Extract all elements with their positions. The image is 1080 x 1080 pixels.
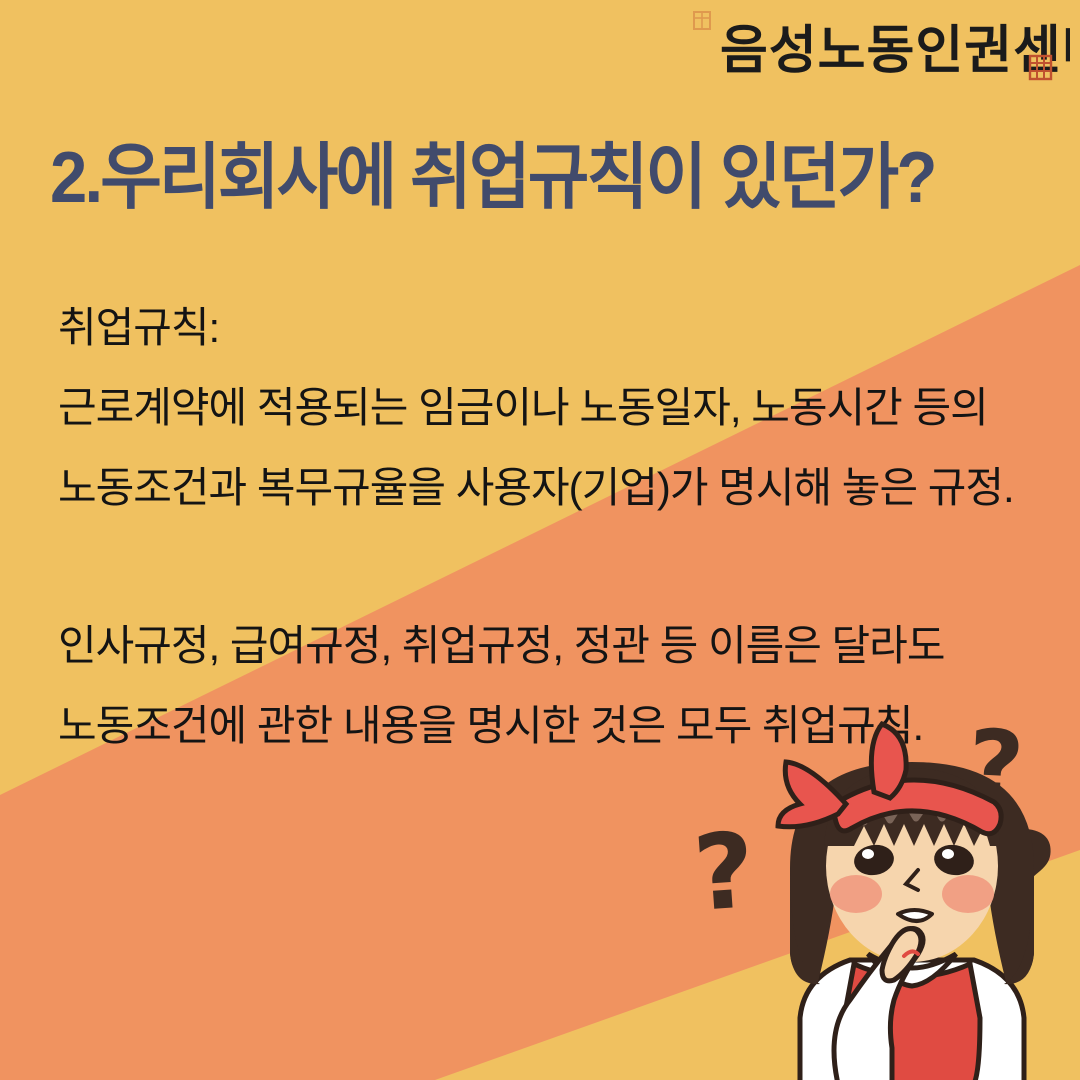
card-news-slide: 음성노동인권센터 2.우리회사에 취업규칙이 있던가? 취업규칙: 근로계약에 … [0,0,1080,1080]
body-line: 인사규정, 급여규정, 취업규정, 정관 등 이름은 달라도 [58,606,1048,686]
thinking-girl-illustration [742,718,1080,1080]
paragraph-definition: 취업규칙: 근로계약에 적용되는 임금이나 노동일자, 노동시간 등의 노동조건… [58,288,1048,528]
brand-logo-text: 음성노동인권센터 [720,21,1070,81]
seal-mark-small [694,12,710,29]
body-line: 근로계약에 적용되는 임금이나 노동일자, 노동시간 등의 [58,368,1048,448]
mouth [898,910,932,921]
body-line: 노동조건과 복무규율을 사용자(기업)가 명시해 놓은 규정. [58,448,1048,528]
page-title: 2.우리회사에 취업규칙이 있던가? [50,142,980,214]
brand-logo: 음성노동인권센터 [690,6,1070,90]
body-copy: 취업규칙: 근로계약에 적용되는 임금이나 노동일자, 노동시간 등의 노동조건… [58,288,1048,766]
paragraph-spacer [58,528,1048,606]
body-line: 취업규칙: [58,288,1048,368]
